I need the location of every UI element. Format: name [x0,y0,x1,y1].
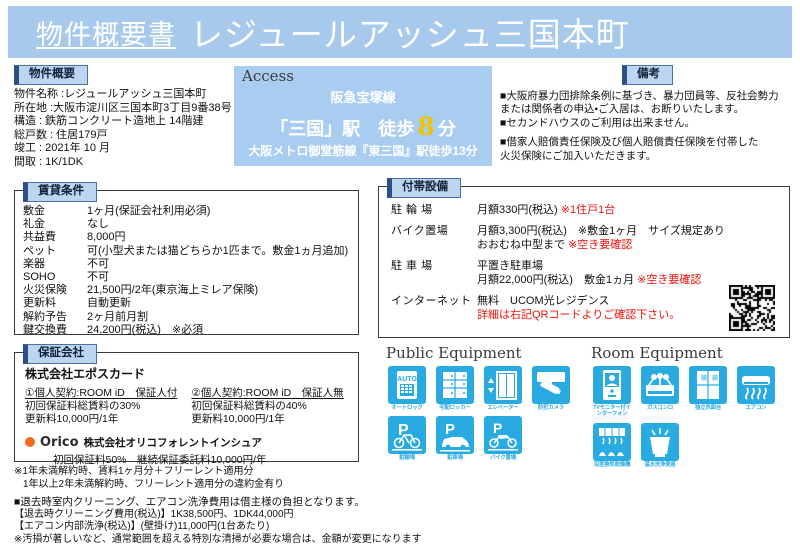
orico-company-name: 株式会社オリコフォレントインシュア [84,435,262,450]
equipment-item: 温水洗浄便座 [639,423,681,468]
row-label: インターネット [391,294,477,322]
washbasin-icon: 鏡鏡 [689,366,727,404]
remarks-badge: 備考 [622,65,673,85]
room-equipment-grid: TVモニター付インターフォンガスコンロ鏡鏡独立洗面台エアコン浴室換気乾燥機温水洗… [591,366,796,468]
table-row: 解約予告 2ヶ月前月割 [23,311,348,324]
public-equipment-grid: AUTOオートロック宅配ロッカーエレベーター防犯カメラP駐輪場P駐車場Pバイク置… [386,366,591,462]
row-value: 1ヶ月(保証会社利用必須) [87,205,210,218]
row-label: 敷金 [23,205,87,218]
orico-fee-line: 初回保証料50% 継続保証委託料10,000円/年 [25,452,352,467]
row-label: 駐 輪 場 [391,203,477,217]
equipment-item: AUTOオートロック [386,366,428,411]
washlet-icon [641,423,679,461]
equipment-label: 独立洗面台 [687,405,729,411]
remarks-section: 備考 ■大阪府暴力団排除条例に基づき、暴力団員等、反社会勢力 または関係者の申込… [500,64,795,163]
equipment-item: 防犯カメラ [530,366,572,411]
overview-row: 間取 : 1K/1DK [14,156,239,170]
guarantee-content: 株式会社エポスカード ①個人契約:ROOM iD 保証人付 初回保証料総賃料の3… [25,365,352,467]
overview-row: 総戸数 : 住居179戸 [14,129,239,143]
bicycle-parking-icon: P [388,416,426,454]
bath-dryer-icon [593,423,631,461]
table-row: 駐 輪 場 月額330円(税込) ※1住戸1台 [391,203,725,217]
remarks-list: ■大阪府暴力団排除条例に基づき、暴力団員等、反社会勢力 または関係者の申込・ご入… [500,90,795,163]
value-main: 無料 UCOM光レジデンス [477,295,609,307]
table-row: 駐 車 場 平置き駐車場 月額22,000円(税込) 敷金1ヵ月 ※空き要確認 [391,259,725,287]
plan-title: ②個人契約:ROOM iD 保証人無 [191,387,343,400]
value-main-2: 月額22,000円(税込) 敷金1ヵ月 [477,274,634,286]
equipment-item: P駐輪場 [386,416,428,461]
gas-stove-icon [641,366,679,404]
equipment-label: バイク置場 [482,455,524,461]
overview-row: 竣工 : 2021年 10 月 [14,142,239,156]
property-overview-badge: 物件概要 [14,65,88,85]
row-value: 無料 UCOM光レジデンス 詳細は右記QRコードよりご確認下さい。 [477,294,680,322]
svg-text:鏡: 鏡 [712,374,718,382]
guarantee-plan-columns: ①個人契約:ROOM iD 保証人付 初回保証料総賃料の30% 更新料10,00… [25,387,352,427]
row-value: 自動更新 [87,297,131,310]
room-equipment-column: Room Equipment TVモニター付インターフォンガスコンロ鏡鏡独立洗面… [591,344,796,494]
air-conditioner-icon [737,366,775,404]
row-value: 不可 [87,258,109,271]
property-overview-list: 物件名称 :レジュールアッシュ三国本町 所在地 :大阪市淀川区三国本町3丁目9番… [14,88,239,170]
rental-conditions-badge: 賃貸条件 [23,182,97,202]
row-label: バイク置場 [391,224,477,252]
guarantee-badge: 保証会社 [23,344,97,364]
auto-lock-icon: AUTO [388,366,426,404]
equipment-label: ガスコンロ [639,405,681,411]
document-header-banner: 物件概要書 レジュールアッシュ三国本町 [8,6,792,58]
remarks-badge-wrap: 備考 [500,64,795,85]
row-label: 更新料 [23,297,87,310]
equipment-item: 宅配ロッカー [434,366,476,411]
facilities-section: 付帯設備 駐 輪 場 月額330円(税込) ※1住戸1台 バイク置場 月額3,3… [378,186,790,338]
equipment-label: オートロック [386,405,428,411]
note-line: 【退去時クリーニング費用(税込)】1K38,500円、1DK44,000円 [14,509,414,522]
equipment-item: エアコン [735,366,777,418]
row-label: 駐 車 場 [391,259,477,287]
guarantee-plan: ②個人契約:ROOM iD 保証人無 初回保証料総賃料の40% 更新料10,00… [191,387,343,427]
room-equipment-title: Room Equipment [591,344,796,362]
public-equipment-column: Public Equipment AUTOオートロック宅配ロッカーエレベーター防… [386,344,591,494]
facilities-table: 駐 輪 場 月額330円(税込) ※1住戸1台 バイク置場 月額3,300円(税… [391,203,725,329]
value-main: 月額330円(税込) [477,204,558,216]
equipment-item: 鏡鏡独立洗面台 [687,366,729,418]
row-value: 平置き駐車場 月額22,000円(税込) 敷金1ヵ月 ※空き要確認 [477,259,701,287]
table-row: 楽器 不可 [23,258,348,271]
row-value: 2ヶ月前月割 [87,311,148,324]
remarks-line: 火災保険にご加入いただきます。 [500,150,795,163]
facilities-badge: 付帯設備 [387,178,461,198]
table-row: バイク置場 月額3,300円(税込) ※敷金1ヶ月 サイズ規定あり おおむね中型… [391,224,725,252]
plan-title: ①個人契約:ROOM iD 保証人付 [25,387,177,400]
note-line: 1年以上2年未満解約時、フリーレント適用分の違約金有り [14,479,414,492]
row-label: 楽器 [23,258,87,271]
car-parking-icon: P [436,416,474,454]
plan-renewal-fee: 更新料10,000円/1年 [25,413,177,426]
equipment-label: 浴室換気乾燥機 [591,462,633,468]
rental-conditions-section: 賃貸条件 敷金 1ヶ月(保証会社利用必須) 礼金 なし 共益費 8,000円 ペ… [14,190,359,335]
delivery-locker-icon [436,366,474,404]
row-label: 火災保険 [23,284,87,297]
guarantee-company-section: 保証会社 株式会社エポスカード ①個人契約:ROOM iD 保証人付 初回保証料… [14,352,359,462]
note-line: ※1年未満解約時、賃料1ヶ月分＋フリーレント適用分 [14,466,414,479]
public-equipment-title: Public Equipment [386,344,591,362]
row-value: 不可 [87,271,109,284]
tv-intercom-icon [593,366,631,404]
table-row: 鍵交換費 24,200円(税込) ※必須 [23,324,348,337]
row-value: 月額3,300円(税込) ※敷金1ヶ月 サイズ規定あり おおむね中型まで ※空き… [477,224,725,252]
access-station-prefix: 「三国」駅 徒歩 [270,119,414,139]
equipment-item: Pバイク置場 [482,416,524,461]
access-station-suffix: 分 [438,119,456,139]
table-row: 火災保険 21,500円/2年(東京海上ミレア保険) [23,284,348,297]
table-row: 更新料 自動更新 [23,297,348,310]
equipment-label: 温水洗浄便座 [639,462,681,468]
elevator-icon [484,366,522,404]
equipment-panel: Public Equipment AUTOオートロック宅配ロッカーエレベーター防… [386,344,796,494]
row-value: なし [87,218,109,231]
page-title: レジュールアッシュ三国本町 [190,8,630,56]
row-value: 可(小型犬または猫どちらか1匹まで。敷金1ヵ月追加) [87,245,348,258]
value-note: ※空き要確認 [568,239,632,251]
equipment-item: TVモニター付インターフォン [591,366,633,418]
table-row: 敷金 1ヶ月(保証会社利用必須) [23,205,348,218]
table-row: インターネット 無料 UCOM光レジデンス 詳細は右記QRコードよりご確認下さい… [391,294,725,322]
row-label: 共益費 [23,231,87,244]
row-label: 鍵交換費 [23,324,87,337]
svg-text:AUTO: AUTO [397,376,417,383]
note-line: 【エアコン内部洗浄(税込)】(壁掛け)11,000円(1台あたり) [14,521,414,534]
remarks-line: または関係者の申込・ご入居は、お断りいたします。 [500,103,795,116]
overview-row: 構造 : 鉄筋コンクリート造地上 14階建 [14,115,239,129]
table-row: ペット 可(小型犬または猫どちらか1匹まで。敷金1ヵ月追加) [23,245,348,258]
table-row: 共益費 8,000円 [23,231,348,244]
row-label: SOHO [23,271,87,284]
document-kind-title: 物件概要書 [36,13,176,52]
equipment-label: 駐輪場 [386,455,428,461]
access-section: Access 阪急宝塚線 「三国」駅 徒歩8分 大阪メトロ御堂筋線『東三国』駅徒… [234,66,492,166]
row-value: 21,500円/2年(東京海上ミレア保険) [87,284,258,297]
svg-text:P: P [493,420,502,436]
access-heading: Access [242,67,294,85]
equipment-label: エアコン [735,405,777,411]
equipment-label: 宅配ロッカー [434,405,476,411]
row-label: 礼金 [23,218,87,231]
note-line: ※汚損が著しいなど、通常範囲を超える特別な清掃が必要な場合は、金額が変更になりま… [14,534,414,547]
motorcycle-parking-icon: P [484,416,522,454]
orico-logo-row: Orico 株式会社オリコフォレントインシュア [25,435,352,450]
orico-wordmark: Orico [40,435,79,450]
overview-row: 物件名称 :レジュールアッシュ三国本町 [14,88,239,102]
row-label: ペット [23,245,87,258]
row-value: 8,000円 [87,231,126,244]
property-overview-section: 物件概要 物件名称 :レジュールアッシュ三国本町 所在地 :大阪市淀川区三国本町… [14,64,239,170]
equipment-label: エレベーター [482,405,524,411]
svg-text:鏡: 鏡 [701,374,707,382]
plan-initial-fee: 初回保証料総賃料の40% [191,400,343,413]
access-secondary-line: 大阪メトロ御堂筋線『東三国』駅徒歩13分 [234,142,492,159]
value-note: ※1住戸1台 [561,204,615,216]
row-value: 24,200円(税込) ※必須 [87,324,203,337]
equipment-item: P駐車場 [434,416,476,461]
footer-notes: ※1年未満解約時、賃料1ヶ月分＋フリーレント適用分 1年以上2年未満解約時、フリ… [14,466,414,547]
orico-dot-icon [25,437,35,447]
equipment-label: 駐車場 [434,455,476,461]
qr-code[interactable] [729,285,775,331]
table-row: SOHO 不可 [23,271,348,284]
remarks-line: ■借家人賠償責任保険及び個人賠償責任保険を付帯した [500,136,795,149]
note-line: ■退去時室内クリーニング、エアコン洗浄費用は借主様の負担となります。 [14,496,414,509]
overview-row: 所在地 :大阪市淀川区三国本町3丁目9番38号 [14,102,239,116]
property-summary-document: 物件概要書 レジュールアッシュ三国本町 物件概要 物件名称 :レジュールアッシュ… [0,0,800,550]
value-main: 平置き駐車場 [477,260,543,272]
equipment-item: ガスコンロ [639,366,681,418]
rental-conditions-table: 敷金 1ヶ月(保証会社利用必須) 礼金 なし 共益費 8,000円 ペット 可(… [23,205,348,337]
equipment-label: 防犯カメラ [530,405,572,411]
equipment-item: 浴室換気乾燥機 [591,423,633,468]
table-row: 礼金 なし [23,218,348,231]
guarantee-company-name: 株式会社エポスカード [25,365,352,382]
access-rail-line: 阪急宝塚線 [234,87,492,106]
equipment-label: TVモニター付インターフォン [591,405,633,418]
value-note: 詳細は右記QRコードよりご確認下さい。 [477,309,680,321]
plan-initial-fee: 初回保証料総賃料の30% [25,400,177,413]
value-note: ※空き要確認 [637,274,701,286]
value-main-2: おおむね中型まで [477,239,565,251]
row-label: 解約予告 [23,311,87,324]
row-value: 月額330円(税込) ※1住戸1台 [477,203,615,217]
remarks-line: ■セカンドハウスのご利用は出来ません。 [500,117,795,130]
value-main: 月額3,300円(税込) ※敷金1ヶ月 サイズ規定あり [477,225,725,237]
svg-text:P: P [445,421,455,438]
equipment-item: エレベーター [482,366,524,411]
guarantee-plan: ①個人契約:ROOM iD 保証人付 初回保証料総賃料の30% 更新料10,00… [25,387,177,427]
security-camera-icon [532,366,570,404]
access-walk-minutes: 8 [414,112,437,141]
remarks-line: ■大阪府暴力団排除条例に基づき、暴力団員等、反社会勢力 [500,90,795,103]
plan-renewal-fee: 更新料10,000円/1年 [191,413,343,426]
access-walk-line: 「三国」駅 徒歩8分 [234,112,492,141]
